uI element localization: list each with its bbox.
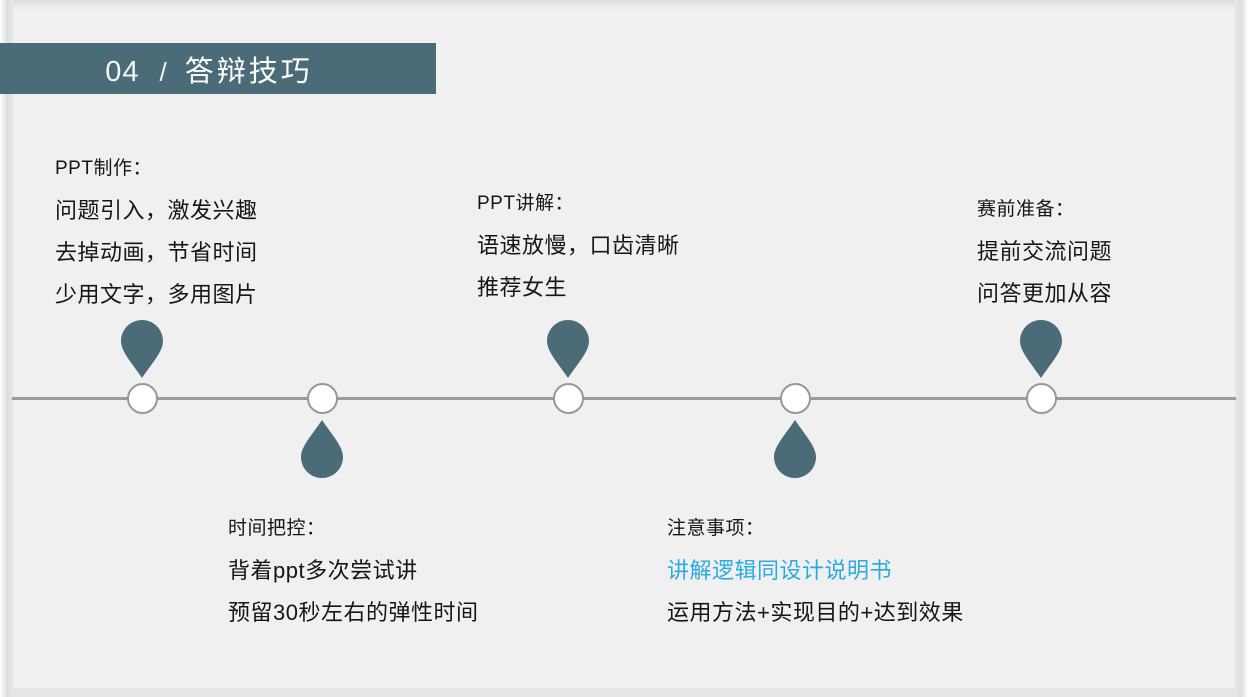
slide-top-edge (12, 0, 1236, 10)
block-ppt-production-line-3: 少用文字，多用图片 (55, 274, 258, 316)
presentation-slide: 04 / 答辩技巧 PPT制作：问题引入，激发兴趣去掉动画，节省时间少用文字，多… (0, 0, 1248, 697)
timeline-pin-2-down (299, 418, 345, 480)
block-ppt-production: PPT制作：问题引入，激发兴趣去掉动画，节省时间少用文字，多用图片 (55, 148, 258, 316)
block-pre-contest: 赛前准备：提前交流问题问答更加从容 (977, 189, 1112, 315)
block-ppt-production-line-1: 问题引入，激发兴趣 (55, 190, 258, 232)
timeline-pin-3-up (545, 318, 591, 380)
slide-left-shadow (0, 0, 13, 697)
block-ppt-presentation-heading: PPT讲解： (477, 183, 680, 225)
block-ppt-presentation-line-1: 语速放慢，口齿清晰 (477, 225, 680, 267)
timeline-node-2[interactable] (307, 383, 338, 414)
timeline-node-4[interactable] (780, 383, 811, 414)
section-number: 04 (105, 56, 139, 89)
timeline-pin-1-up (119, 318, 165, 380)
block-pre-contest-heading: 赛前准备： (977, 189, 1112, 231)
block-pre-contest-line-2: 问答更加从容 (977, 273, 1112, 315)
section-header-content: 04 / 答辩技巧 (105, 48, 313, 90)
block-time-control-heading: 时间把控： (228, 508, 478, 550)
slide-bottom-edge (12, 688, 1236, 697)
block-ppt-production-heading: PPT制作： (55, 148, 258, 190)
timeline-pin-5-up (1018, 318, 1064, 380)
block-cautions-line-2: 运用方法+实现目的+达到效果 (667, 592, 964, 634)
block-cautions: 注意事项：讲解逻辑同设计说明书运用方法+实现目的+达到效果 (667, 508, 964, 634)
block-time-control-line-2: 预留30秒左右的弹性时间 (228, 592, 478, 634)
slide-right-shadow (1235, 0, 1248, 697)
timeline-node-3[interactable] (553, 383, 584, 414)
timeline-node-5[interactable] (1026, 383, 1057, 414)
timeline-pin-4-down (772, 418, 818, 480)
timeline-node-1[interactable] (127, 383, 158, 414)
block-cautions-line-1: 讲解逻辑同设计说明书 (667, 550, 964, 592)
section-title: 答辩技巧 (185, 48, 313, 90)
block-ppt-presentation: PPT讲解：语速放慢，口齿清晰推荐女生 (477, 183, 680, 309)
block-pre-contest-line-1: 提前交流问题 (977, 231, 1112, 273)
block-cautions-heading: 注意事项： (667, 508, 964, 550)
block-ppt-production-line-2: 去掉动画，节省时间 (55, 232, 258, 274)
section-header-banner: 04 / 答辩技巧 (0, 43, 436, 94)
section-separator: / (140, 57, 185, 88)
block-time-control: 时间把控：背着ppt多次尝试讲预留30秒左右的弹性时间 (228, 508, 478, 634)
block-ppt-presentation-line-2: 推荐女生 (477, 267, 680, 309)
block-time-control-line-1: 背着ppt多次尝试讲 (228, 550, 478, 592)
